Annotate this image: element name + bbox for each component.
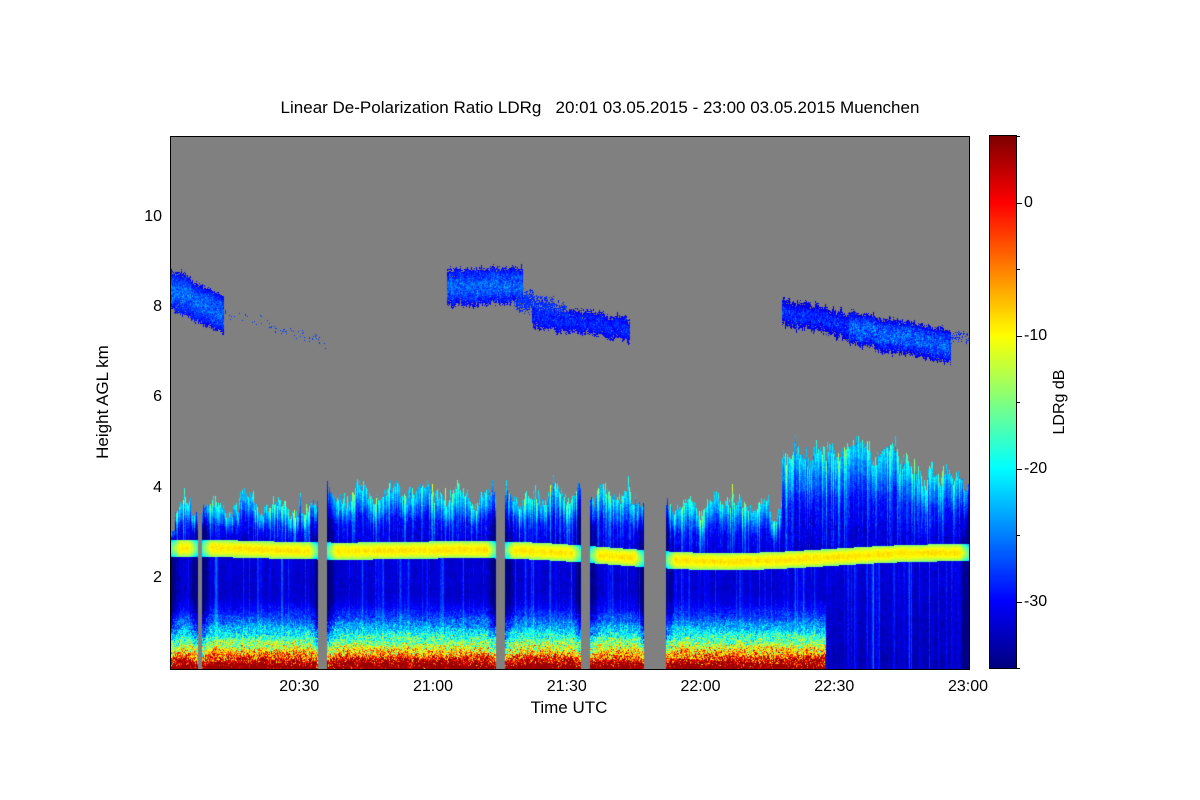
x-axis-tick xyxy=(300,669,301,670)
colorbar-tick xyxy=(1017,602,1022,603)
colorbar: 0-10-20-30 xyxy=(990,136,1016,668)
x-axis-minor-tick xyxy=(260,669,261,670)
x-axis-label: Time UTC xyxy=(531,698,608,718)
y-axis-tick-label: 6 xyxy=(153,388,162,406)
y-axis-tick-label: 10 xyxy=(144,208,162,226)
x-axis-minor-tick xyxy=(661,669,662,670)
colorbar-tick xyxy=(1017,469,1022,470)
x-axis-tick-label: 21:30 xyxy=(547,678,587,696)
x-axis-minor-tick xyxy=(751,669,752,670)
colorbar-tick-label: -20 xyxy=(1024,460,1047,478)
x-axis-tick xyxy=(434,669,435,670)
x-axis-minor-tick xyxy=(840,669,841,670)
colorbar-tick xyxy=(1017,336,1022,337)
x-axis-tick-label: 23:00 xyxy=(948,678,988,696)
x-axis-minor-tick xyxy=(929,669,930,670)
x-axis-tick xyxy=(568,669,569,670)
x-axis-minor-tick xyxy=(305,669,306,670)
colorbar-minor-tick xyxy=(1017,668,1020,669)
x-axis-minor-tick xyxy=(617,669,618,670)
colorbar-minor-tick xyxy=(1017,402,1020,403)
x-axis-minor-tick xyxy=(795,669,796,670)
y-axis-tick-label: 2 xyxy=(153,569,162,587)
x-axis-minor-tick xyxy=(216,669,217,670)
page-title: Linear De-Polarization Ratio LDRg 20:01 … xyxy=(0,98,1200,118)
x-axis-tick xyxy=(835,669,836,670)
colorbar-tick-label: -30 xyxy=(1024,593,1047,611)
colorbar-tick xyxy=(1017,203,1022,204)
y-axis-tick-label: 4 xyxy=(153,479,162,497)
colorbar-minor-tick xyxy=(1017,535,1020,536)
y-axis-tick-label: 8 xyxy=(153,298,162,316)
heatmap-image xyxy=(171,137,969,669)
x-axis-tick-label: 22:00 xyxy=(680,678,720,696)
y-axis-label: Height AGL km xyxy=(93,345,113,459)
x-axis-minor-tick xyxy=(572,669,573,670)
colorbar-tick-label: 0 xyxy=(1024,194,1033,212)
colorbar-minor-tick xyxy=(1017,136,1020,137)
x-axis-minor-tick xyxy=(706,669,707,670)
x-axis-tick xyxy=(969,669,970,670)
x-axis-minor-tick xyxy=(483,669,484,670)
colorbar-minor-tick xyxy=(1017,269,1020,270)
x-axis-minor-tick xyxy=(349,669,350,670)
x-axis-tick xyxy=(702,669,703,670)
colorbar-tick-label: -10 xyxy=(1024,327,1047,345)
x-axis-tick-label: 22:30 xyxy=(814,678,854,696)
x-axis-minor-tick xyxy=(171,669,172,670)
x-axis-minor-tick xyxy=(884,669,885,670)
x-axis-tick-label: 20:30 xyxy=(279,678,319,696)
colorbar-label: LDRg dB xyxy=(1051,370,1069,435)
x-axis-tick-label: 21:00 xyxy=(413,678,453,696)
heatmap-plot-area xyxy=(170,136,970,670)
x-axis-minor-tick xyxy=(438,669,439,670)
colorbar-gradient xyxy=(989,135,1017,669)
x-axis-minor-tick xyxy=(528,669,529,670)
figure-canvas: Linear De-Polarization Ratio LDRg 20:01 … xyxy=(0,0,1200,800)
x-axis-minor-tick xyxy=(394,669,395,670)
